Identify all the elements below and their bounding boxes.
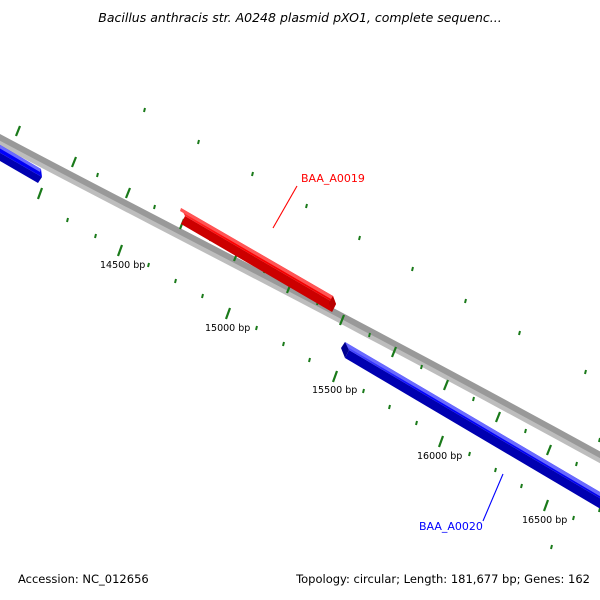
tick-minor — [154, 205, 155, 209]
tick-major — [126, 188, 130, 198]
tick-label: 16000 bp — [417, 451, 462, 462]
tick-minor — [421, 365, 422, 369]
tick-label-mark — [333, 371, 337, 382]
gene-label-leader — [483, 474, 503, 521]
tick-minor — [389, 405, 390, 409]
tick-minor — [495, 468, 496, 472]
tick-minor — [585, 370, 586, 374]
tick-major — [444, 380, 448, 390]
genome-backbone[interactable] — [0, 132, 600, 467]
gene-bar-side — [181, 216, 336, 312]
tick-label-mark — [38, 188, 42, 199]
status-bar: Accession: NC_012656 Topology: circular;… — [0, 565, 600, 595]
genome-viewer: Bacillus anthracis str. A0248 plasmid pX… — [0, 0, 600, 600]
tick-minor — [525, 429, 526, 433]
tick-minor — [148, 263, 149, 267]
tick-minor — [309, 358, 310, 362]
tick-label-mark — [439, 436, 443, 447]
tick-major — [72, 157, 76, 167]
tick-minor — [369, 333, 370, 337]
tick-label: 15500 bp — [312, 385, 357, 396]
tick-minor — [97, 173, 98, 177]
tick-minor — [573, 516, 574, 520]
gene-label-leader — [273, 186, 297, 228]
tick-minor — [412, 267, 413, 271]
tick-minor — [521, 484, 522, 488]
tick-minor — [359, 236, 360, 240]
tick-minor — [67, 218, 68, 222]
tick-major — [547, 445, 551, 455]
tick-minor — [306, 204, 307, 208]
tick-minor — [95, 234, 96, 238]
tick-minor — [519, 331, 520, 335]
tick-label: 15000 bp — [205, 323, 250, 334]
tick-minor — [551, 545, 552, 549]
tick-label-mark — [118, 245, 122, 256]
tick-label-mark — [544, 500, 548, 511]
tick-minor — [416, 421, 417, 425]
sequence-summary-text: Topology: circular; Length: 181,677 bp; … — [296, 572, 590, 586]
tick-label: 16500 bp — [522, 515, 567, 526]
tick-minor — [363, 389, 364, 393]
tick-minor — [469, 452, 470, 456]
tick-major — [16, 126, 20, 136]
tick-minor — [473, 397, 474, 401]
gene-label-BAA_A0019[interactable]: BAA_A0019 — [301, 172, 365, 185]
tick-minor — [252, 172, 253, 176]
gene-label-BAA_A0020[interactable]: BAA_A0020 — [419, 520, 483, 533]
tick-label: 14500 bp — [100, 260, 145, 271]
page-title: Bacillus anthracis str. A0248 plasmid pX… — [0, 6, 600, 30]
tick-minor — [256, 326, 257, 330]
genome-map-canvas[interactable]: 14500 bp 15000 bp 15500 bp 16000 bp 1650… — [0, 40, 600, 552]
gene-feature-BAA_A0019[interactable]: BAA_A0019 — [180, 172, 365, 312]
tick-minor — [202, 294, 203, 298]
tick-label-mark — [226, 308, 230, 319]
tick-minor — [465, 299, 466, 303]
accession-text: Accession: NC_012656 — [18, 572, 149, 586]
gene-bar-highlight — [180, 208, 333, 299]
tick-minor — [144, 108, 145, 112]
tick-minor — [175, 279, 176, 283]
tick-minor — [576, 462, 577, 466]
tick-major — [496, 412, 500, 422]
tick-minor — [198, 140, 199, 144]
tick-minor — [283, 342, 284, 346]
